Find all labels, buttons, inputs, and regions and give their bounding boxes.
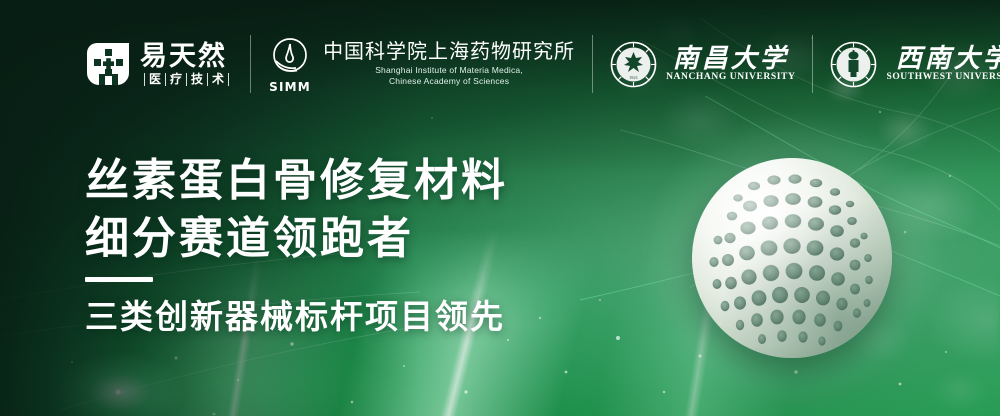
sphere-body [692,158,892,358]
nanchang-text: 南昌大学 NANCHANG UNIVERSITY [666,46,795,83]
simm-name-en-line1: Shanghai Institute of Materia Medica, [323,65,575,76]
southwest-name-en: SOUTHWEST UNIVERSITY [886,73,1000,83]
promo-banner: 易天然 医 疗 技 术 [0,0,1000,416]
southwest-university-seal-icon [830,41,877,88]
nanchang-name-cn: 南昌大学 [673,46,789,72]
simm-name-cn: 中国科学院上海药物研究所 [323,41,575,61]
medical-cell-square-icon [85,41,131,87]
logo-separator-3 [812,35,813,93]
svg-text:1921: 1921 [629,75,638,80]
yitianran-tag-char-2: 技 [191,73,203,85]
subheadline: 三类创新器械标杆项目领先 [85,295,505,339]
logo-southwest-university[interactable]: 西南大学 SOUTHWEST UNIVERSITY [830,31,1000,97]
southwest-name-cn: 西南大学 [896,46,1000,72]
headline-line-1: 丝素蛋白骨修复材料 [85,152,508,210]
simm-name-en-line2: Chinese Academy of Sciences [323,76,575,87]
simm-wordmark: SIMM [269,80,311,94]
nanchang-name-en: NANCHANG UNIVERSITY [666,73,795,83]
southwest-text: 西南大学 SOUTHWEST UNIVERSITY [886,46,1000,83]
headline-divider-rule [85,277,153,282]
headline-block: 丝素蛋白骨修复材料 细分赛道领跑者 [85,152,508,268]
yitianran-tag-char-0: 医 [149,73,161,85]
yitianran-tagline: 医 疗 技 术 [140,73,233,86]
simm-name-en: Shanghai Institute of Materia Medica, Ch… [323,65,575,88]
partner-logo-bar: 易天然 医 疗 技 术 [85,31,1000,97]
yitianran-tag-char-1: 疗 [170,73,182,85]
logo-yitianran[interactable]: 易天然 医 疗 技 术 [85,31,233,97]
logo-separator-1 [250,35,251,93]
yitianran-tag-char-3: 术 [212,73,224,85]
simm-droplet-icon: SIMM [268,35,312,94]
headline-line-2: 细分赛道领跑者 [85,210,508,268]
logo-simm[interactable]: SIMM 中国科学院上海药物研究所 Shanghai Institute of … [268,31,575,97]
yitianran-text: 易天然 医 疗 技 术 [140,43,233,86]
yitianran-name: 易天然 [140,43,233,70]
logo-separator-2 [592,35,593,93]
nanchang-university-seal-icon: 1921 [610,41,657,88]
bone-scaffold-sphere [692,158,892,358]
simm-text: 中国科学院上海药物研究所 Shanghai Institute of Mater… [323,41,575,88]
logo-nanchang-university[interactable]: 1921 南昌大学 NANCHANG UNIVERSITY [610,31,795,97]
